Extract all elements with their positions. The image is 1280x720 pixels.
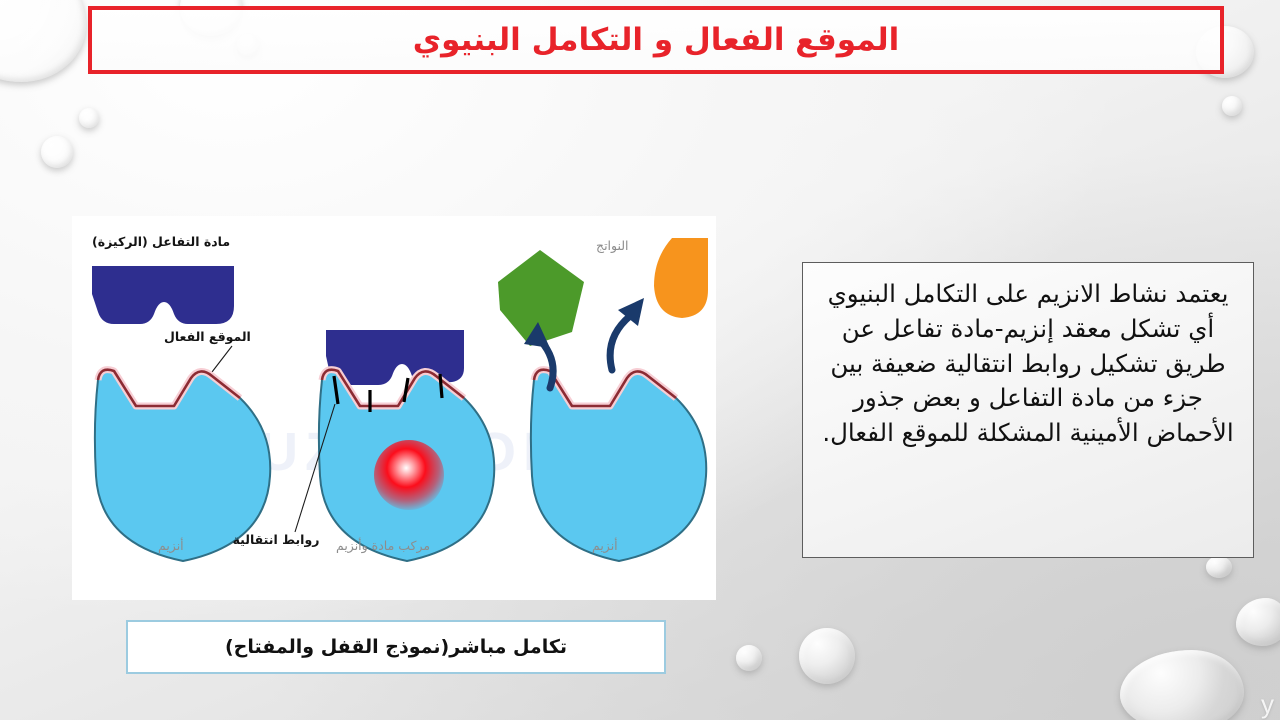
product-release-arrow-right xyxy=(600,288,670,374)
diagram-caption-text: تكامل مباشر(نموذج القفل والمفتاح) xyxy=(225,636,567,658)
droplet-decoration xyxy=(799,628,855,684)
explanation-text: يعتمد نشاط الانزيم على التكامل البنيوي أ… xyxy=(821,277,1235,451)
enzyme-left-label: أنزيم xyxy=(158,538,184,553)
droplet-decoration xyxy=(736,645,762,671)
transitional-bonds-label-text: روابط انتقالية xyxy=(233,532,320,547)
enzyme-mechanism-diagram: BUZZLOOM مادة التفاعل (الركيزة) الموقع ا… xyxy=(72,216,716,600)
transitional-bonds-label: روابط انتقالية xyxy=(228,532,324,547)
droplet-decoration xyxy=(1236,598,1280,646)
slide-title-bar: الموقع الفعال و التكامل البنيوي xyxy=(88,6,1224,74)
product-release-arrow-left xyxy=(502,314,566,392)
reaction-spot-glow xyxy=(374,440,444,510)
corner-watermark: y xyxy=(1261,689,1274,720)
enzyme-right-label: أنزيم xyxy=(592,538,618,553)
droplet-decoration xyxy=(0,0,86,82)
active-site-label: الموقع الفعال xyxy=(164,329,251,344)
products-label: النواتج xyxy=(596,238,629,253)
droplet-decoration xyxy=(1206,556,1232,578)
explanation-textbox: يعتمد نشاط الانزيم على التكامل البنيوي أ… xyxy=(802,262,1254,558)
substrate-label: مادة التفاعل (الركيزة) xyxy=(92,234,230,249)
complex-label: مركب مادة وأنزيم xyxy=(336,538,430,553)
droplet-decoration xyxy=(1120,650,1244,720)
droplet-decoration xyxy=(41,136,73,168)
slide-canvas: y الموقع الفعال و التكامل البنيوي BUZZLO… xyxy=(0,0,1280,720)
droplet-decoration xyxy=(1222,96,1242,116)
diagram-caption-box: تكامل مباشر(نموذج القفل والمفتاح) xyxy=(126,620,666,674)
droplet-decoration xyxy=(79,108,99,128)
page-title: الموقع الفعال و التكامل البنيوي xyxy=(413,22,900,58)
